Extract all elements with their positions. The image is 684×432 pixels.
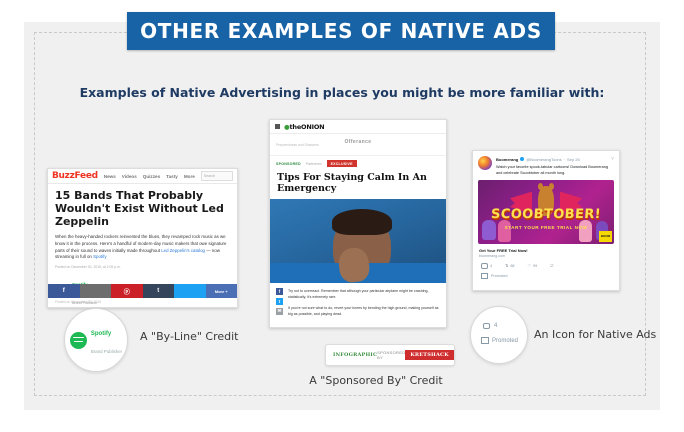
byline-callout-label: A "By-Line" Credit (140, 330, 238, 343)
bat-ear-left (538, 183, 543, 190)
promoted-icon-zoom (481, 337, 489, 344)
ad-character-right-2 (579, 220, 592, 242)
promoted-zoom-count: 4 (494, 323, 497, 329)
onion-headline: Tips For Staying Calm In An Emergency (270, 169, 446, 199)
tweet-header: Boomerang @BoomerangToons · Sep 26 ˅ Wat… (473, 151, 619, 176)
promoted-icon (481, 273, 488, 279)
onion-navbar: ●theONION (270, 120, 446, 134)
tweet-action-bar[interactable]: 4 ⇅88 ♡99 ⎋ (473, 258, 619, 269)
page-title: OTHER EXAMPLES OF NATIVE ADS (140, 19, 542, 43)
share-pinterest-button[interactable]: ⓟ (111, 284, 143, 298)
sponsored-callout-label: A "Sponsored By" Credit (309, 374, 442, 387)
nav-item-tasty[interactable]: Tasty (166, 174, 178, 179)
onion-article-photo (270, 199, 446, 283)
share-twitter-button[interactable] (174, 284, 206, 298)
onion-paragraph-2: If you're not sure what to do, revert yo… (288, 305, 440, 317)
social-share-bar[interactable]: f ⓟ t More + (48, 284, 237, 298)
photo-hair (332, 209, 392, 235)
body-link-spotify[interactable]: Spotify (93, 254, 106, 259)
byline-publisher-role: Brand Publisher (91, 349, 122, 354)
like-action[interactable]: ♡99 (528, 263, 538, 268)
byline-zoom-text: Spotify Brand Publisher (91, 322, 122, 358)
reply-icon (481, 263, 488, 269)
retweet-count: 88 (510, 264, 514, 268)
promoted-row: Promoted (473, 269, 619, 279)
onion-section-title: Offerance (270, 139, 446, 145)
icon-callout-label: An Icon for Native Ads (534, 328, 656, 341)
share-email-icon[interactable]: ✉ (276, 308, 283, 315)
sponsored-by-bar: INFOGRAPHIC SPONSORED BY KRETSHACK (325, 344, 455, 366)
onion-article-body: f t ✉ Try not to overreact. Remember tha… (270, 283, 446, 322)
tweet-handle[interactable]: @BoomerangToons (526, 157, 561, 162)
tweet-author-name[interactable]: Boomerang (496, 157, 518, 162)
retweet-icon: ⇅ (505, 263, 508, 268)
like-icon: ♡ (528, 263, 531, 268)
onion-paragraph-1: Try not to overreact. Remember that alth… (288, 288, 440, 300)
tweet-link-preview[interactable]: Get Your FREE Trial Now! boomerang.com (473, 244, 619, 258)
buzzfeed-navbar: BuzzFeed News Videos Quizzes Tasty More … (48, 169, 237, 184)
buzzfeed-logo: BuzzFeed (52, 171, 98, 181)
avatar[interactable] (478, 156, 492, 170)
byline-publisher-name: Spotify (91, 331, 111, 337)
reply-count: 4 (490, 264, 492, 268)
buzzfeed-article-card[interactable]: BuzzFeed News Videos Quizzes Tasty More … (47, 168, 238, 308)
byline-zoom-callout: Spotify Brand Publisher (64, 308, 128, 372)
sponsored-callout-label-wrap: A "Sponsored By" Credit (0, 374, 684, 387)
nav-item-quizzes[interactable]: Quizzes (143, 174, 160, 179)
retweet-action[interactable]: ⇅88 (505, 263, 514, 268)
share-email-button[interactable] (80, 284, 112, 298)
onion-logo: ●theONION (284, 123, 324, 131)
share-icon: ⎋ (550, 264, 553, 268)
tweet-text: Watch your favorite spook-tabular cartoo… (496, 164, 614, 176)
sponsored-by-label: SPONSORED BY (377, 350, 405, 360)
buzzfeed-headline: 15 Bands That Probably Wouldn't Exist Wi… (48, 184, 237, 231)
tag-partner: Partnered (306, 162, 322, 166)
onion-logo-word: ONION (301, 123, 324, 131)
infographic-label: INFOGRAPHIC (333, 352, 377, 358)
promoted-zoom-callout: 4 Promoted (470, 306, 528, 364)
tweet-date-sep: · (564, 157, 565, 162)
boomerang-badge-icon: BOOM (599, 231, 612, 242)
onion-share-column[interactable]: f t ✉ (276, 288, 283, 322)
twitter-promoted-tweet-card[interactable]: Boomerang @BoomerangToons · Sep 26 ˅ Wat… (472, 150, 620, 291)
chevron-down-icon[interactable]: ˅ (611, 156, 614, 163)
share-more-button[interactable]: More + (206, 284, 238, 298)
title-banner: OTHER EXAMPLES OF NATIVE ADS (127, 12, 555, 50)
nav-item-more[interactable]: More (184, 174, 195, 179)
hamburger-menu-icon[interactable] (275, 124, 280, 129)
tweet-author-row: Boomerang @BoomerangToons · Sep 26 ˅ (496, 156, 614, 163)
promoted-zoom-label: Promoted (492, 338, 518, 344)
slide-root: OTHER EXAMPLES OF NATIVE ADS Examples of… (0, 0, 684, 432)
share-action[interactable]: ⎋ (550, 264, 553, 268)
ad-logo-text: SCOOBTOBER! (478, 207, 614, 222)
tag-sponsored: SPONSORED (276, 162, 301, 166)
share-facebook-button[interactable]: f (48, 284, 80, 298)
buzzfeed-footer: Posted on December 30, 2015 (48, 298, 237, 307)
onion-logo-prefix: the (289, 123, 301, 131)
search-input[interactable]: Search (201, 171, 233, 181)
tweet-date: Sep 26 (567, 157, 580, 162)
onion-subheader: Preparedness and Disasters Offerance (270, 134, 446, 156)
sponsor-brand-badge: KRETSHACK (405, 350, 453, 360)
body-line-1: When the heavy-handed rockers reinvented… (55, 234, 219, 239)
nav-item-videos[interactable]: Videos (122, 174, 137, 179)
spotify-icon-zoom (70, 332, 87, 349)
verified-badge-icon (520, 157, 524, 161)
buzzfeed-body: When the heavy-handed rockers reinvented… (48, 231, 237, 261)
tweet-header-lines: Boomerang @BoomerangToons · Sep 26 ˅ Wat… (496, 156, 614, 176)
onion-paragraphs: Try not to overreact. Remember that alth… (288, 288, 440, 322)
status-badge: EXCLUSIVE (327, 160, 357, 167)
reply-icon-zoom (483, 323, 490, 329)
onion-article-card[interactable]: ●theONION Preparedness and Disasters Off… (269, 119, 447, 328)
share-twitter-icon[interactable]: t (276, 298, 283, 305)
ad-character-left-1 (482, 220, 496, 240)
bat-ear-right (549, 183, 554, 190)
tweet-ad-image[interactable]: SCOOBTOBER! START YOUR FREE TRIAL NOW BO… (478, 180, 614, 244)
promoted-zoom-row: Promoted (481, 337, 518, 344)
ad-character-left-2 (498, 220, 511, 242)
ad-cta-text: START YOUR FREE TRIAL NOW (478, 225, 614, 230)
share-facebook-icon[interactable]: f (276, 288, 283, 295)
body-link-catalog[interactable]: Led Zeppelin's catalog (161, 248, 205, 253)
nav-item-news[interactable]: News (104, 174, 116, 179)
like-count: 99 (533, 264, 537, 268)
subtitle: Examples of Native Advertising in places… (0, 85, 684, 100)
buzzfeed-posted-meta: Posted on December 30, 2015, at 2:05 p.m… (48, 261, 237, 269)
promoted-zoom-reply: 4 (483, 323, 497, 329)
reply-action[interactable]: 4 (481, 263, 492, 269)
onion-tag-row: SPONSORED Partnered EXCLUSIVE (270, 156, 446, 169)
link-title: Get Your FREE Trial Now! (479, 248, 613, 253)
promoted-label: Promoted (491, 274, 507, 278)
share-tumblr-button[interactable]: t (143, 284, 175, 298)
